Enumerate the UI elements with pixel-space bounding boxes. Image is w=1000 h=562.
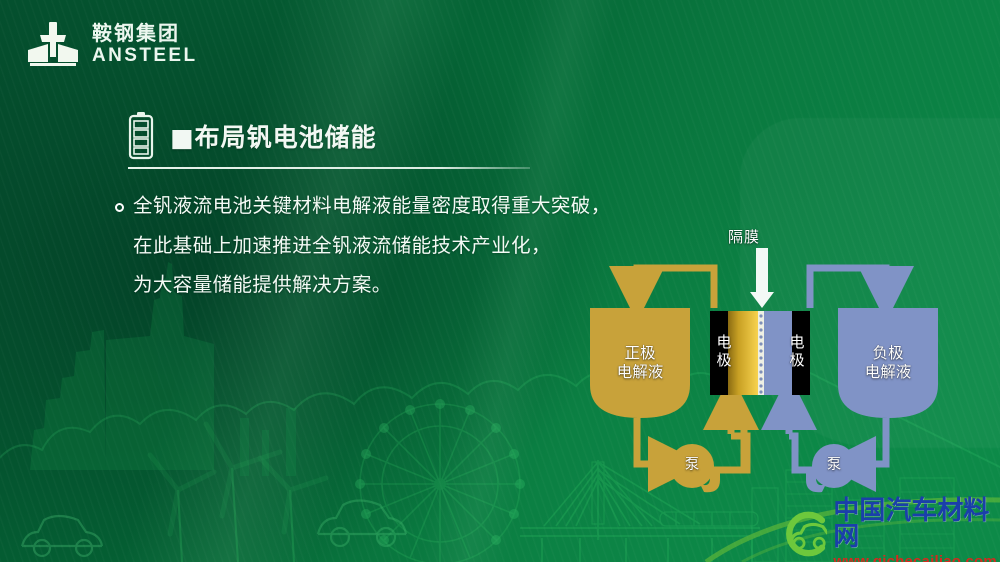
negative-half-cell <box>764 311 792 395</box>
membrane-pointer-arrow <box>750 248 774 308</box>
positive-electrolyte-tank <box>590 308 690 418</box>
positive-half-cell <box>728 311 758 395</box>
electrode-left <box>710 311 728 395</box>
watermark-site-name: 中国汽车材料网 <box>833 498 1000 550</box>
slide-canvas: 鞍钢集团 ANSTEEL ■布局钒电池储能 全钒液流电池关键材料电解液能量密度取… <box>0 0 1000 562</box>
pump-left <box>670 444 720 492</box>
site-watermark: 中国汽车材料网 www.qichecailiao.com <box>778 505 1000 562</box>
negative-electrolyte-tank <box>838 308 938 418</box>
vanadium-flow-battery-diagram <box>0 0 1000 562</box>
watermark-url: www.qichecailiao.com <box>833 554 1000 562</box>
electrode-right <box>792 311 810 395</box>
pump-right <box>806 444 856 492</box>
car-c-logo-icon <box>778 509 827 559</box>
